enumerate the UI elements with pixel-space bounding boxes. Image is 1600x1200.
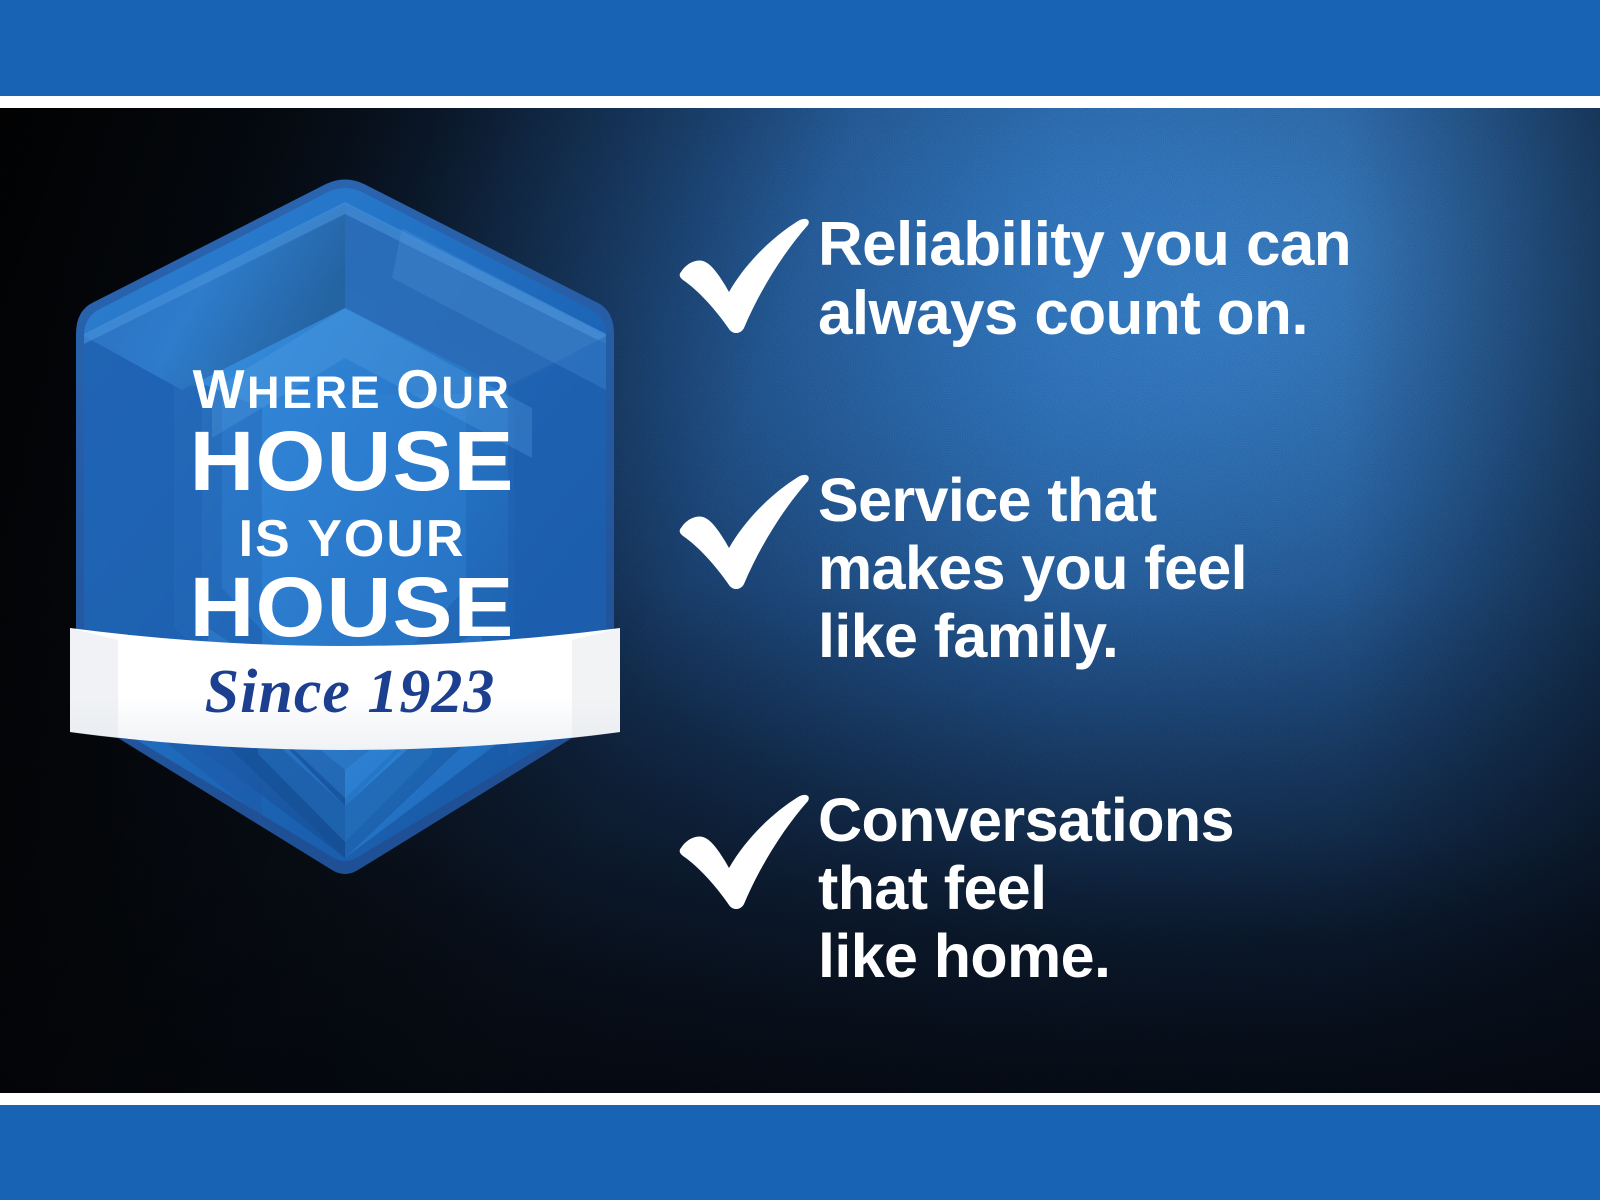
- since-ribbon: Since 1923: [70, 628, 620, 750]
- list-item: Conversations that feel like home.: [672, 784, 1492, 990]
- benefits-list: Reliability you can always count on. Ser…: [672, 112, 1492, 982]
- logo-line-where-our: WHEREOUR: [193, 358, 512, 420]
- ribbon-since-text: Since 1923: [205, 658, 496, 726]
- bottom-white-rule: [0, 1093, 1600, 1105]
- logo-line-is-your: IS YOUR: [239, 510, 466, 568]
- list-item-label: Service that makes you feel like family.: [818, 464, 1492, 670]
- bottom-brand-band: [0, 1105, 1600, 1200]
- list-item: Reliability you can always count on.: [672, 208, 1492, 348]
- list-item: Service that makes you feel like family.: [672, 464, 1492, 670]
- top-white-rule: [0, 96, 1600, 108]
- logo-line-house-1: HOUSE: [190, 415, 515, 509]
- top-brand-band: [0, 0, 1600, 96]
- promo-graphic: WHEREOUR HOUSE IS YOUR HOUSE Since 1923: [0, 0, 1600, 1200]
- list-item-label: Conversations that feel like home.: [818, 784, 1492, 990]
- checkmark-icon: [672, 470, 818, 592]
- company-shield-logo: WHEREOUR HOUSE IS YOUR HOUSE Since 1923: [62, 158, 628, 830]
- list-item-label: Reliability you can always count on.: [818, 208, 1492, 348]
- checkmark-icon: [672, 214, 818, 336]
- checkmark-icon: [672, 790, 818, 912]
- logo-line-house-2: HOUSE: [190, 561, 515, 655]
- logo-lettering: WHEREOUR HOUSE IS YOUR HOUSE: [190, 358, 515, 654]
